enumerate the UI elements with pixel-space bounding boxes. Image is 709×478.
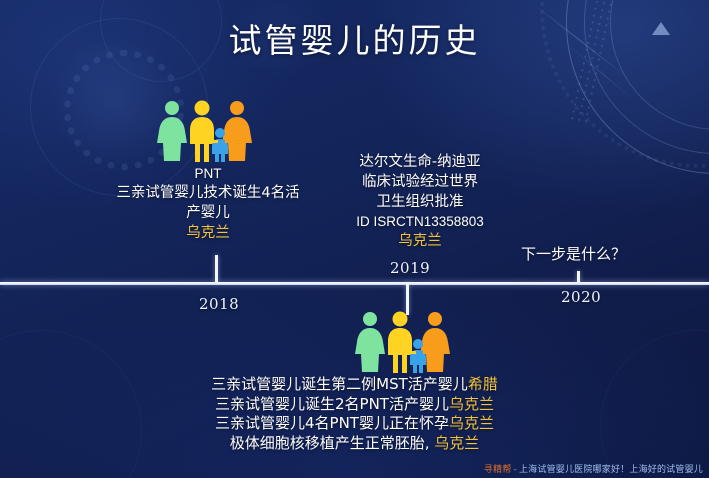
watermark-brand: 寻精帮 xyxy=(484,465,512,475)
watermark-text: 上海试管婴儿医院哪家好！上海好的试管婴儿 xyxy=(519,465,703,475)
figure-woman-green xyxy=(157,101,187,161)
block-2018-line-2: 三亲试管婴儿技术诞生4名活 xyxy=(102,183,314,203)
row-1-text: 三亲试管婴儿诞生第二例MST活产婴儿 xyxy=(211,375,468,393)
block-2018-line-1: PNT xyxy=(102,164,314,183)
text-block-2019: 达尔文生命-纳迪亚 临床试验经过世界 卫生组织批准 ID ISRCTN13358… xyxy=(330,152,510,251)
block-2018-country: 乌克兰 xyxy=(102,223,314,243)
figure-man-yellow xyxy=(190,101,214,163)
watermark-separator: - xyxy=(512,465,519,475)
watermark: 寻精帮-上海试管婴儿医院哪家好！上海好的试管婴儿 xyxy=(484,462,703,475)
row-3-country: 乌克兰 xyxy=(449,414,494,432)
block-2019-line-1: 达尔文生命-纳迪亚 xyxy=(330,152,510,172)
bottom-list-row-4: 极体细胞核移植产生正常胚胎, 乌克兰 xyxy=(0,434,709,454)
bottom-detail-list: 三亲试管婴儿诞生第二例MST活产婴儿希腊 三亲试管婴儿诞生2名PNT活产婴儿乌克… xyxy=(0,375,709,453)
family-group-icon-bottom xyxy=(353,311,457,373)
block-2019-line-3: 卫生组织批准 xyxy=(330,192,510,212)
next-step-question: 下一步是什么？ xyxy=(521,243,626,264)
figure-man-yellow xyxy=(388,312,412,374)
bottom-list-row-1: 三亲试管婴儿诞生第二例MST活产婴儿希腊 xyxy=(0,375,709,395)
timeline-year-2019: 2019 xyxy=(390,259,430,277)
text-block-2018: PNT 三亲试管婴儿技术诞生4名活 产婴儿 乌克兰 xyxy=(102,164,314,243)
timeline-tick-2018 xyxy=(215,255,218,283)
row-4-text: 极体细胞核移植产生正常胚胎, xyxy=(230,434,435,452)
figure-woman-green xyxy=(355,312,385,372)
bottom-list-row-3: 三亲试管婴儿4名PNT婴儿正在怀孕乌克兰 xyxy=(0,414,709,434)
timeline-axis xyxy=(0,282,709,285)
row-1-country: 希腊 xyxy=(468,375,498,393)
row-2-text: 三亲试管婴儿诞生2名PNT活产婴儿 xyxy=(215,395,449,413)
block-2019-trial-id: ID ISRCTN13358803 xyxy=(330,212,510,231)
block-2018-line-3: 产婴儿 xyxy=(102,203,314,223)
family-group-icon-top xyxy=(155,100,259,162)
block-2019-line-2: 临床试验经过世界 xyxy=(330,172,510,192)
bottom-list-row-2: 三亲试管婴儿诞生2名PNT活产婴儿乌克兰 xyxy=(0,395,709,415)
row-2-country: 乌克兰 xyxy=(449,395,494,413)
page-title: 试管婴儿的历史 xyxy=(0,14,709,62)
slide-canvas: 试管婴儿的历史 2018 2019 2020 xyxy=(0,0,709,478)
timeline-year-2020: 2020 xyxy=(561,288,601,306)
timeline-year-2018: 2018 xyxy=(199,295,239,313)
row-3-text: 三亲试管婴儿4名PNT婴儿正在怀孕 xyxy=(215,414,449,432)
block-2019-country: 乌克兰 xyxy=(330,231,510,251)
timeline-tick-2020 xyxy=(577,271,580,283)
row-4-country: 乌克兰 xyxy=(434,434,479,452)
